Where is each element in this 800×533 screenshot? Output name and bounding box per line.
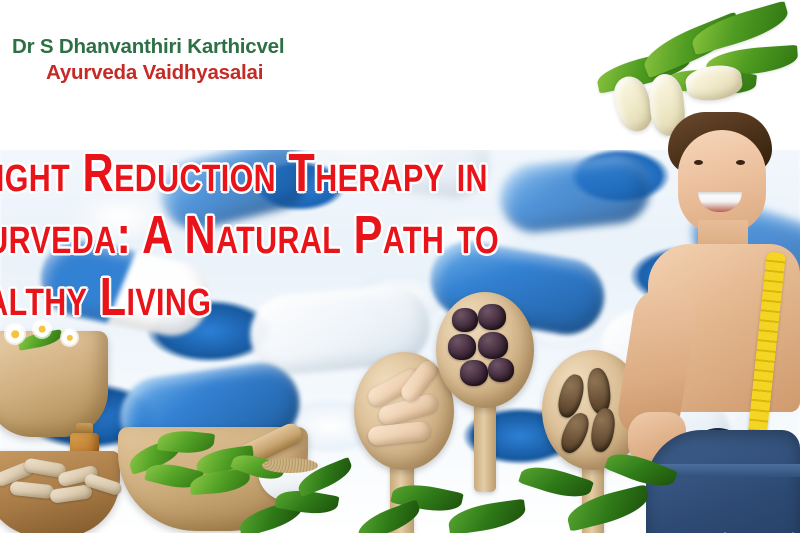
title-line-1: Weight Reduction Therapy in: [0, 142, 499, 204]
dark-pellet: [488, 358, 514, 382]
page-title: Weight Reduction Therapy in Ayurveda: A …: [0, 142, 640, 328]
clinic-subtitle: Ayurveda Vaidhyasalai: [12, 60, 284, 86]
chamomile-flower-icon: [62, 330, 77, 345]
herbal-tablet: [684, 62, 744, 103]
dark-pellet: [460, 360, 488, 386]
herbal-seeds: [262, 458, 318, 473]
clinic-name: Dr S Dhanvanthiri Karthicvel: [12, 34, 284, 60]
man-eye-left: [694, 160, 703, 165]
man-eye-right: [736, 160, 745, 165]
dark-pellet: [448, 334, 476, 360]
clinic-header: Dr S Dhanvanthiri Karthicvel Ayurveda Va…: [12, 34, 284, 86]
wooden-mortar-with-chamomile: [0, 331, 108, 437]
title-line-2: Ayurveda: A Natural Path to: [0, 204, 499, 266]
ayurveda-weight-reduction-banner: Dr S Dhanvanthiri Karthicvel Ayurveda Va…: [0, 0, 800, 533]
title-line-3: Healthy Living: [0, 266, 499, 328]
dark-pellet: [478, 332, 508, 359]
man-face: [678, 130, 766, 234]
